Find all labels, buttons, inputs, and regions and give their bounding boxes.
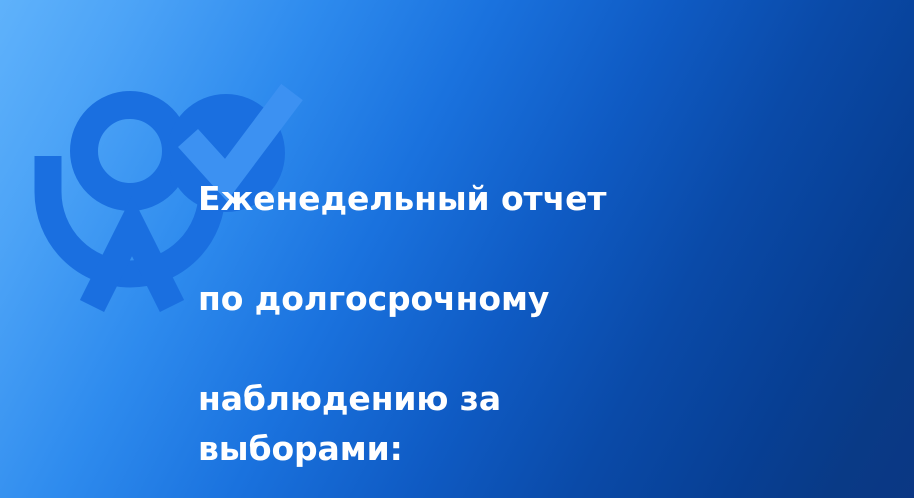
- legs-lambda-icon: [92, 226, 172, 306]
- title-line-1: Еженедельный отчет: [198, 174, 668, 224]
- title-line-3: наблюдению за выборами:: [198, 374, 668, 474]
- report-title: Еженедельный отчет по долгосрочному набл…: [198, 124, 668, 498]
- left-eye-ring-icon: [84, 105, 176, 197]
- title-line-2: по долгосрочному: [198, 274, 668, 324]
- report-cover-card: Еженедельный отчет по долгосрочному набл…: [0, 0, 914, 498]
- arms-arc-icon: [48, 156, 212, 274]
